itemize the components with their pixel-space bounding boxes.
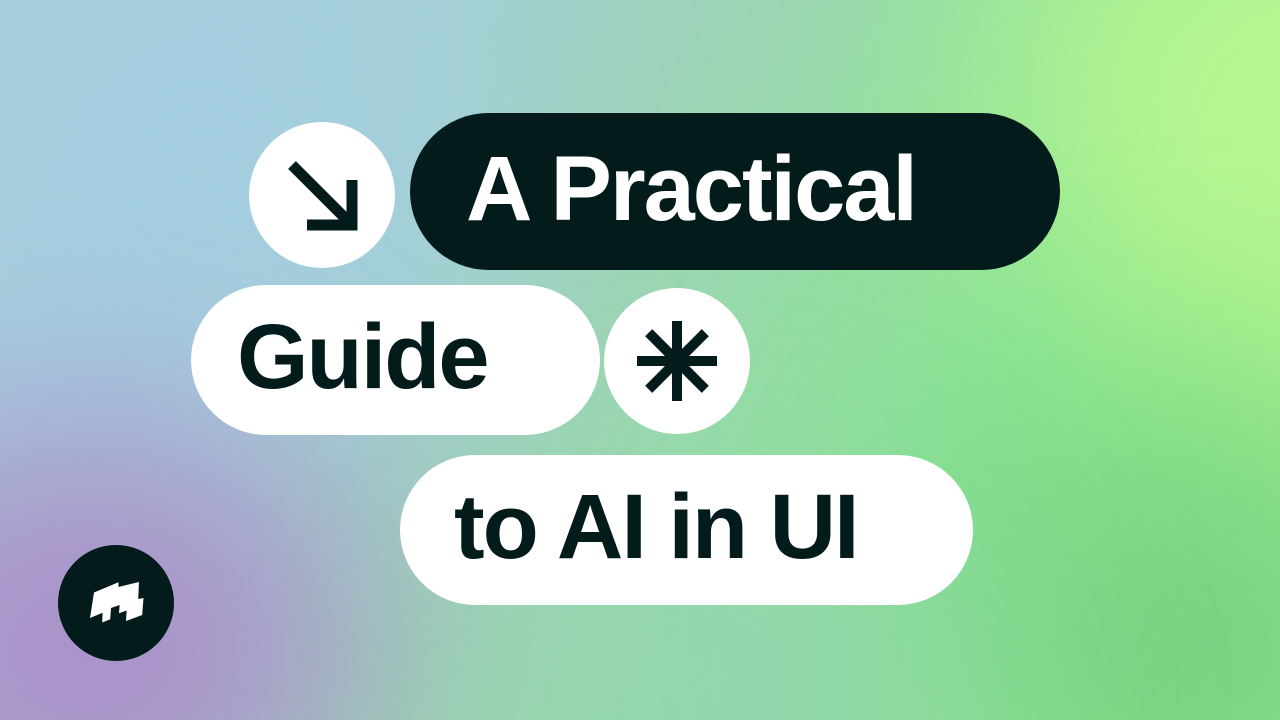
headline-pill-guide: Guide: [191, 285, 600, 435]
headline-pill-to-ai-in-ui: to AI in UI: [400, 455, 973, 605]
arrow-down-right-glyph: [283, 156, 361, 234]
headline-text-to-ai-in-ui: to AI in UI: [454, 481, 858, 573]
headline-pill-a-practical: A Practical: [410, 113, 1060, 270]
asterisk-glyph: [633, 317, 721, 405]
headline-text-guide: Guide: [237, 311, 488, 403]
brand-mark-glyph: [88, 577, 144, 629]
arrow-down-right-icon: [249, 122, 395, 268]
headline-group: A Practical Guide to AI in UI: [0, 0, 1280, 720]
brand-mark-icon[interactable]: [58, 545, 174, 661]
asterisk-icon: [604, 288, 750, 434]
headline-text-a-practical: A Practical: [466, 142, 916, 234]
slide-canvas: A Practical Guide to AI in UI: [0, 0, 1280, 720]
